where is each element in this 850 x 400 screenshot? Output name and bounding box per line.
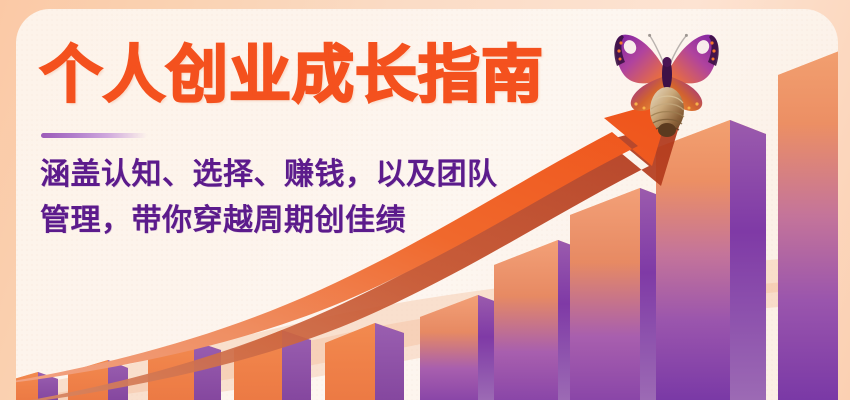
- chart-bar-10: [656, 120, 766, 400]
- promo-banner: 个人创业成长指南 涵盖认知、选择、赚钱，以及团队 管理，带你穿越周期创佳绩: [0, 0, 850, 400]
- chart-bar-11: [778, 46, 850, 400]
- growth-chart-illustration: [0, 0, 850, 400]
- butterfly-icon: [612, 24, 720, 139]
- cocoon-icon: [650, 87, 684, 137]
